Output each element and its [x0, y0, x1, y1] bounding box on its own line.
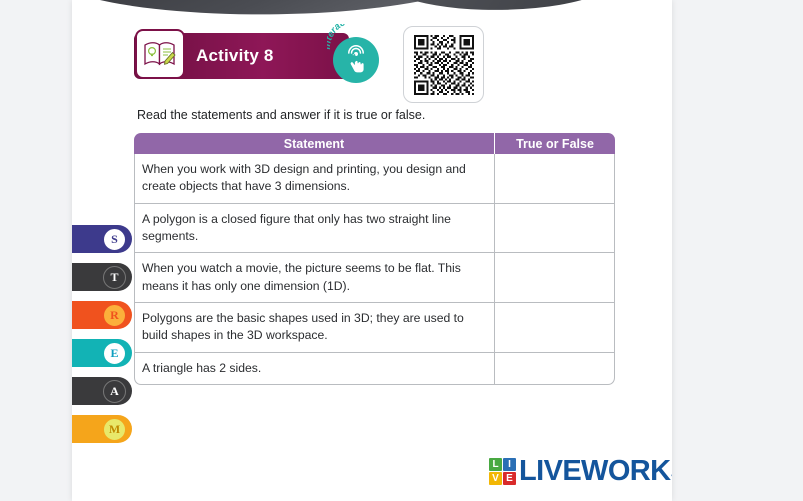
share-button-s[interactable]: S: [72, 225, 132, 253]
statement-cell: When you work with 3D design and printin…: [134, 154, 494, 204]
share-button-r-glyph: R: [103, 304, 126, 327]
answer-cell[interactable]: [494, 303, 615, 353]
column-header-statement: Statement: [134, 133, 494, 154]
statement-cell: A polygon is a closed figure that only h…: [134, 204, 494, 254]
share-button-e-glyph: E: [103, 342, 126, 365]
qr-code[interactable]: [403, 26, 484, 103]
table-row: Polygons are the basic shapes used in 3D…: [134, 303, 615, 353]
liveworksheets-logo: LIVE LIVEWORKSHEETS: [489, 457, 672, 486]
table-row: When you watch a movie, the picture seem…: [134, 253, 615, 303]
share-button-m[interactable]: M: [72, 415, 132, 443]
statement-cell: Polygons are the basic shapes used in 3D…: [134, 303, 494, 353]
tap-hand-icon: [341, 45, 371, 75]
table-header-row: Statement True or False: [134, 133, 615, 154]
share-button-a-glyph: A: [103, 380, 126, 403]
open-book-lightbulb-pencil-icon: [135, 29, 185, 79]
share-button-r[interactable]: R: [72, 301, 132, 329]
share-button-e[interactable]: E: [72, 339, 132, 367]
share-button-s-glyph: S: [103, 228, 126, 251]
share-button-t-glyph: T: [103, 266, 126, 289]
answer-cell[interactable]: [494, 204, 615, 254]
activity-title: Activity 8: [196, 46, 274, 66]
answer-cell[interactable]: [494, 253, 615, 303]
table-row: A triangle has 2 sides.: [134, 353, 615, 385]
share-button-t[interactable]: T: [72, 263, 132, 291]
liveworksheets-wordmark: LIVEWORKSHEETS: [519, 457, 672, 486]
statement-cell: When you watch a movie, the picture seem…: [134, 253, 494, 303]
share-button-m-glyph: M: [103, 418, 126, 441]
live-square-i: I: [503, 458, 516, 471]
answer-cell[interactable]: [494, 353, 615, 385]
answer-cell[interactable]: [494, 154, 615, 204]
live-square-e: E: [503, 472, 516, 485]
share-button-a[interactable]: A: [72, 377, 132, 405]
table-row: When you work with 3D design and printin…: [134, 154, 615, 204]
social-share-rail: STREAM: [72, 225, 132, 453]
statement-cell: A triangle has 2 sides.: [134, 353, 494, 385]
live-squares-icon: LIVE: [489, 458, 516, 485]
instruction-text: Read the statements and answer if it is …: [137, 108, 425, 122]
true-false-table: Statement True or False When you work wi…: [134, 133, 615, 385]
worksheet-page: Activity 8 interactive: [72, 0, 672, 501]
activity-header: Activity 8 interactive: [134, 33, 484, 103]
qr-code-image: [414, 35, 474, 95]
interactive-badge[interactable]: interactive: [333, 37, 379, 83]
table-row: A polygon is a closed figure that only h…: [134, 204, 615, 254]
column-header-true-or-false: True or False: [494, 133, 615, 154]
activity-banner: Activity 8: [134, 33, 349, 79]
live-square-l: L: [489, 458, 502, 471]
live-square-v: V: [489, 472, 502, 485]
